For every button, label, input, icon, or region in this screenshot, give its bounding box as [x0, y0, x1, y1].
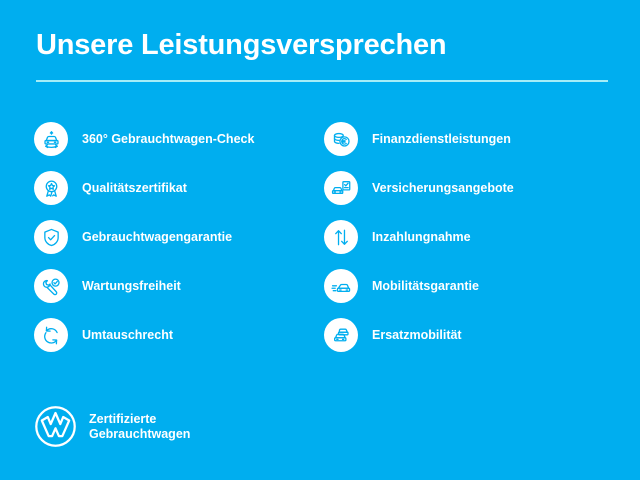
up-down-arrows-icon [324, 220, 358, 254]
feature-item-wartungsfreiheit[interactable]: Wartungsfreiheit [34, 269, 324, 303]
volkswagen-logo-icon [33, 404, 78, 449]
feature-column-right: Finanzdienstleistungen Versicherungsange… [324, 122, 614, 352]
certified-used-cars-badge: Zertifizierte Gebrauchtwagen [33, 404, 190, 449]
feature-label: Ersatzmobilität [372, 327, 462, 343]
feature-item-gebrauchtwagen-check[interactable]: 360° Gebrauchtwagen-Check [34, 122, 324, 156]
feature-label: Finanzdienstleistungen [372, 131, 511, 147]
badge-text-line1: Zertifizierte [89, 412, 190, 427]
feature-label: Versicherungsangebote [372, 180, 514, 196]
badge-text-line2: Gebrauchtwagen [89, 427, 190, 442]
feature-item-umtauschrecht[interactable]: Umtauschrecht [34, 318, 324, 352]
feature-label: Gebrauchtwagengarantie [82, 229, 232, 245]
coins-euro-icon [324, 122, 358, 156]
feature-label: Qualitätszertifikat [82, 180, 187, 196]
promise-banner: Unsere Leistungsversprechen 360° Gebrauc [0, 0, 640, 480]
car-motion-icon [324, 269, 358, 303]
car-document-check-icon [324, 171, 358, 205]
exchange-arrows-icon [34, 318, 68, 352]
badge-text: Zertifizierte Gebrauchtwagen [89, 412, 190, 442]
feature-label: Umtauschrecht [82, 327, 173, 343]
two-cars-icon [324, 318, 358, 352]
car-360-check-icon [34, 122, 68, 156]
wrench-check-icon [34, 269, 68, 303]
feature-label: Mobilitätsgarantie [372, 278, 479, 294]
feature-item-ersatzmobilitaet[interactable]: Ersatzmobilität [324, 318, 614, 352]
feature-item-gebrauchtwagengarantie[interactable]: Gebrauchtwagengarantie [34, 220, 324, 254]
feature-item-versicherungsangebote[interactable]: Versicherungsangebote [324, 171, 614, 205]
feature-item-mobilitaetsgarantie[interactable]: Mobilitätsgarantie [324, 269, 614, 303]
title-divider [36, 80, 608, 82]
feature-item-qualitaetszertifikat[interactable]: Qualitätszertifikat [34, 171, 324, 205]
feature-label: Wartungsfreiheit [82, 278, 181, 294]
feature-lists: 360° Gebrauchtwagen-Check Qualitätszerti… [34, 122, 614, 352]
feature-column-left: 360° Gebrauchtwagen-Check Qualitätszerti… [34, 122, 324, 352]
quality-award-rosette-icon [34, 171, 68, 205]
feature-item-finanzdienstleistungen[interactable]: Finanzdienstleistungen [324, 122, 614, 156]
feature-label: Inzahlungnahme [372, 229, 471, 245]
shield-check-icon [34, 220, 68, 254]
page-title: Unsere Leistungsversprechen [36, 28, 608, 62]
feature-item-inzahlungnahme[interactable]: Inzahlungnahme [324, 220, 614, 254]
feature-label: 360° Gebrauchtwagen-Check [82, 131, 254, 147]
banner-header: Unsere Leistungsversprechen [36, 28, 608, 82]
